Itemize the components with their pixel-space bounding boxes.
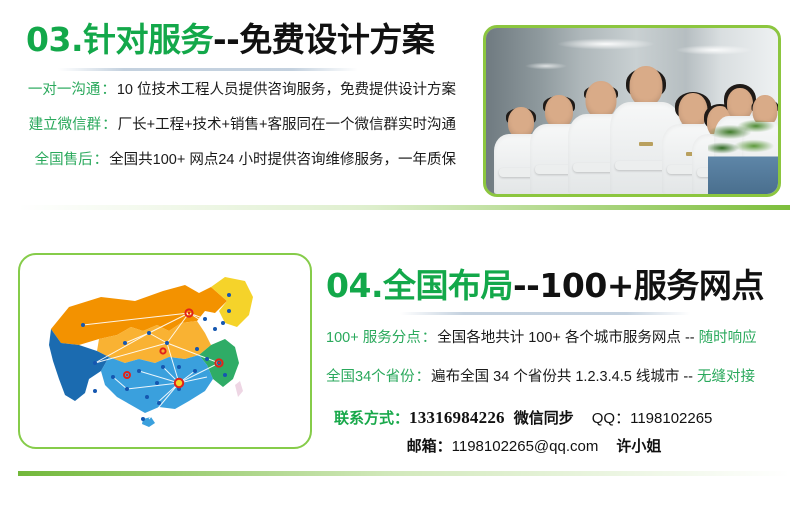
- phone-number[interactable]: 13316984226: [409, 408, 505, 427]
- section-free-design-service: 03.针对服务--免费设计方案 一对一沟通：10 位技术工程人员提供咨询服务，免…: [0, 0, 790, 205]
- bullet-label: 全国售后: [35, 152, 93, 168]
- bullet-colon: ：: [93, 152, 110, 168]
- bullet-row: 一对一沟通：10 位技术工程人员提供咨询服务，免费提供设计方案: [0, 82, 468, 99]
- bullet-colon: ：: [421, 330, 438, 346]
- section-divider-bottom: [18, 471, 790, 476]
- section-03-heading: 03.针对服务--免费设计方案: [26, 20, 434, 60]
- team-photo-frame: [483, 25, 781, 197]
- bullet-accent: 无缝对接: [697, 369, 755, 385]
- section-04-heading-rest: 100+服务网点: [539, 266, 764, 305]
- section-03-heading-dashes: --: [213, 20, 239, 59]
- section-04-heading-dot: .: [371, 266, 383, 305]
- section-03-heading-keyword: 针对服务: [83, 20, 213, 59]
- section-03-number: 03: [26, 20, 71, 59]
- contact-person-name: 许小姐: [616, 438, 661, 455]
- bullet-row: 建立微信群：厂长+工程+技术+销售+客服同在一个微信群实时沟通: [0, 117, 468, 134]
- section-04-heading-keyword: 全国布局: [383, 266, 513, 305]
- bullet-text: 全国共100+ 网点24 小时提供咨询维修服务，一年质保: [109, 152, 456, 168]
- bullet-row: 全国34个省份：遍布全国 34 个省份共 1.2.3.4.5 线城市 -- 无缝…: [326, 369, 782, 386]
- bullet-label: 100+ 服务分点: [326, 330, 421, 346]
- section-04-number: 04: [326, 266, 371, 305]
- section-04-bullet-list: 100+ 服务分点：全国各地共计 100+ 各个城市服务网点 -- 随时响应 全…: [326, 330, 782, 408]
- qq-number[interactable]: 1198102265: [630, 410, 712, 427]
- section-divider-middle: [18, 205, 790, 210]
- bullet-text: 厂长+工程+技术+销售+客服同在一个微信群实时沟通: [118, 117, 456, 133]
- bullet-colon: ：: [100, 82, 117, 98]
- bullet-row: 全国售后：全国共100+ 网点24 小时提供咨询维修服务，一年质保: [0, 152, 468, 169]
- email-address[interactable]: 1198102265@qq.com: [452, 438, 599, 455]
- section-03-bullet-list: 一对一沟通：10 位技术工程人员提供咨询服务，免费提供设计方案 建立微信群：厂长…: [0, 82, 468, 187]
- email-label: 邮箱：: [407, 438, 452, 455]
- contact-colon: ：: [394, 410, 409, 427]
- potted-plant: [708, 116, 778, 194]
- bullet-text: 全国各地共计 100+ 各个城市服务网点 --: [437, 330, 698, 346]
- contact-line-email: 邮箱：1198102265@qq.com许小姐: [326, 437, 782, 457]
- bullet-label: 建立微信群: [29, 117, 102, 133]
- section-04-heading-underline: [400, 312, 690, 315]
- section-04-heading: 04.全国布局--100+服务网点: [326, 266, 764, 306]
- section-03-heading-underline: [58, 68, 358, 71]
- china-map-frame: [18, 253, 312, 449]
- team-photo-image: [486, 28, 778, 194]
- contact-block: 联系方式：13316984226微信同步QQ：1198102265 邮箱：119…: [326, 408, 782, 457]
- china-map-image: [39, 267, 291, 435]
- qq-label: QQ：: [592, 410, 630, 427]
- bullet-colon: ：: [415, 369, 432, 385]
- contact-label: 联系方式: [334, 410, 394, 427]
- bullet-text: 遍布全国 34 个省份共 1.2.3.4.5 线城市 --: [431, 369, 697, 385]
- wechat-sync-label: 微信同步: [514, 410, 574, 427]
- section-03-heading-dot: .: [71, 20, 83, 59]
- map-region-taiwan: [235, 381, 243, 397]
- section-04-heading-dashes: --: [513, 266, 539, 305]
- bullet-row: 100+ 服务分点：全国各地共计 100+ 各个城市服务网点 -- 随时响应: [326, 330, 782, 347]
- bullet-label: 一对一沟通: [28, 82, 101, 98]
- bullet-label: 全国34个省份: [326, 369, 415, 385]
- bullet-colon: ：: [101, 117, 118, 133]
- bullet-accent: 随时响应: [699, 330, 757, 346]
- bullet-text: 10 位技术工程人员提供咨询服务，免费提供设计方案: [117, 82, 456, 98]
- section-03-text-column: 03.针对服务--免费设计方案 一对一沟通：10 位技术工程人员提供咨询服务，免…: [0, 0, 470, 205]
- contact-line-phone: 联系方式：13316984226微信同步QQ：1198102265: [326, 408, 782, 429]
- section-03-heading-rest: 免费设计方案: [239, 20, 434, 59]
